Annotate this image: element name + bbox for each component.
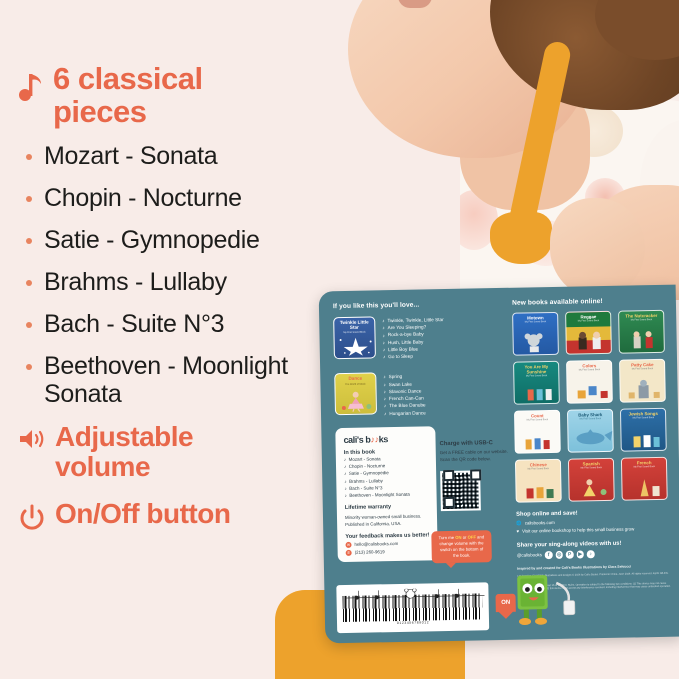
phone-value: (213) 260-9619 <box>355 549 385 555</box>
music-note-icon: ♪ <box>382 325 384 332</box>
grid-book-pattycake[interactable]: Patty Cake My First Sound Book <box>619 359 666 403</box>
bullet-icon <box>26 364 32 370</box>
youtube-icon[interactable]: ▶ <box>576 550 584 558</box>
grid-book-sub: My First Sound Book <box>526 375 547 377</box>
heart-icon: ♥ <box>516 529 519 534</box>
globe-icon: 🌐 <box>516 520 522 526</box>
music-note-icon: ♪ <box>383 353 385 360</box>
baby-mouth <box>398 0 432 8</box>
bullet-icon <box>26 238 32 244</box>
volume-icon <box>18 427 46 451</box>
star-illustration <box>334 333 375 356</box>
grid-book-sub: My First Sound Book <box>579 369 600 371</box>
social-row: @calisbooks f ◎ P ▶ ♪ <box>517 549 673 559</box>
flamenco-illustration <box>569 476 614 499</box>
new-books-header: New books available online! <box>512 297 668 307</box>
music-note-icon: ♪ <box>344 456 346 463</box>
warranty-header: Lifetime warranty <box>345 503 430 511</box>
song-list-dance: ♪Spring ♪Swan Lake ♪Slavonic Dance ♪Fren… <box>383 372 426 417</box>
grid-book-sub: My First Sound Book <box>633 417 654 419</box>
calis-books-logo: cali's b♪♪ks <box>343 433 428 445</box>
feature-label: Adjustable volume <box>55 422 295 481</box>
grid-book-title: You Are My Sunshine <box>514 365 558 375</box>
product-info-card: cali's b♪♪ks In this book ♪Mozart - Sona… <box>335 426 438 562</box>
bullet-icon <box>26 154 32 160</box>
grid-book-chinese[interactable]: Chinese My First Sound Book <box>515 459 562 503</box>
grid-book-sub: My First Sound Book <box>578 320 599 322</box>
website-value: calisbooks.com <box>525 520 555 526</box>
music-note-icon: ♪ <box>344 478 346 485</box>
koala-illustration <box>514 330 559 353</box>
email-row[interactable]: ✉ hello@calisbooks.com <box>345 540 430 548</box>
bullet-icon <box>26 322 32 328</box>
grid-book-motown[interactable]: Motown My First Sound Book <box>512 312 559 356</box>
grid-book-babyshark[interactable]: Baby Shark My First Sound Book <box>567 409 614 453</box>
tiktok-icon[interactable]: ♪ <box>587 550 595 558</box>
list-item-label: Satie - Gymnopedie <box>44 226 260 254</box>
counting-illustration <box>516 428 561 451</box>
list-item: Chopin - Nocturne <box>26 184 340 212</box>
bullet-icon <box>26 196 32 202</box>
music-note-icon <box>18 72 44 102</box>
music-note-icon: ♪ <box>345 492 347 499</box>
feature-label: On/Off button <box>55 499 230 528</box>
usb-c-section: Charge with USB-C Get a FREE cable on ou… <box>440 440 513 512</box>
music-note-icon: ♪ <box>383 374 385 381</box>
headline-row: 6 classical pieces <box>18 62 340 128</box>
grid-book-spanish[interactable]: Spanish My First Sound Book <box>568 458 615 502</box>
baby-photo <box>340 0 679 300</box>
music-note-icon: ♪ <box>344 463 346 470</box>
music-note-icon: ♪ <box>344 485 346 492</box>
music-note-icon: ♪ <box>384 388 386 395</box>
overall-strap-knot <box>490 212 552 264</box>
list-item: Brahms - Lullaby <box>26 268 340 296</box>
headline-text: 6 classical pieces <box>53 62 268 128</box>
book-mascot-illustration <box>512 573 555 626</box>
facebook-icon[interactable]: f <box>545 551 553 559</box>
chinese-illustration <box>516 477 561 500</box>
list-item-label: Bach - Suite N°3 <box>44 310 224 338</box>
list-item: Bach - Suite N°3 <box>26 310 340 338</box>
song-list-twinkle: ♪Twinkle, Twinkle, Little Star ♪Are You … <box>382 315 444 361</box>
barcode: 0123456789012 <box>336 582 489 633</box>
feedback-header: Your feedback makes us better! <box>345 532 430 540</box>
grid-book-nutcracker[interactable]: The Nutcracker My First Sound Book <box>618 310 665 354</box>
usb-header: Charge with USB-C <box>440 440 512 447</box>
grid-book-reggae[interactable]: Reggae My First Sound Book <box>565 311 612 355</box>
bookshop-text: Visit our online bookshop to help this s… <box>522 526 634 533</box>
mini-book-title: Twinkle Little Star <box>334 320 374 330</box>
musicians-illustration <box>567 329 612 352</box>
promo-row-dance: Dance The World of Music <box>334 370 506 418</box>
promo-row-twinkle: Twinkle Little Star My First Sound Book … <box>333 314 505 362</box>
if-you-like-header: If you like this you'll love... <box>333 300 504 310</box>
nutcracker-illustration <box>620 328 665 351</box>
bubble-on: ON <box>455 535 461 540</box>
song-line: ♪Hungarian Dance <box>384 409 426 417</box>
grid-book-sub: My First Sound Book <box>527 419 548 421</box>
phone-icon: ✆ <box>346 549 352 555</box>
list-item: Satie - Gymnopedie <box>26 226 340 254</box>
grid-book-count[interactable]: Count My First Sound Book <box>514 410 561 454</box>
product-feature-image: If you like this you'll love... Twinkle … <box>0 0 679 679</box>
social-handle: @calisbooks <box>517 552 542 557</box>
grid-book-sub: My First Sound Book <box>631 319 652 321</box>
grid-book-french[interactable]: French My First Sound Book <box>621 457 668 501</box>
colors-illustration <box>568 378 613 401</box>
feature-list-panel: 6 classical pieces Mozart - Sonata Chopi… <box>0 0 340 679</box>
credit-line: Inspired by and created for Cali's Books… <box>517 563 673 571</box>
grid-book-sub: My First Sound Book <box>581 467 602 469</box>
feature-on-off-button: On/Off button <box>18 499 340 532</box>
share-videos-header: Share your sing-along videos with us! <box>517 540 673 549</box>
warranty-text: Minority woman-owned small business. Pub… <box>345 512 430 528</box>
logo-note-icon: ♪♪ <box>370 434 378 444</box>
music-note-icon: ♪ <box>383 339 385 346</box>
family-illustration <box>621 426 666 449</box>
eiffel-tower-illustration <box>622 475 667 498</box>
music-note-icon: ♪ <box>383 346 385 353</box>
baby-hand <box>550 198 645 298</box>
bullet-icon <box>26 280 32 286</box>
grid-book-sub: My First Sound Book <box>525 321 546 323</box>
usb-cable-illustration <box>552 580 587 617</box>
music-note-icon: ♪ <box>383 381 385 388</box>
shark-illustration <box>569 427 614 450</box>
song-line: ♪Go to Sleep <box>383 352 445 360</box>
music-note-icon: ♪ <box>344 470 346 477</box>
card-song: ♪Beethoven - Moonlight Sonata <box>345 491 430 500</box>
list-item-label: Mozart - Sonata <box>44 142 217 170</box>
feature-adjustable-volume: Adjustable volume <box>18 422 340 481</box>
grid-book-sub: My First Sound Book <box>632 368 653 370</box>
music-note-icon: ♪ <box>384 403 386 410</box>
grid-book-sub: My First Sound Book <box>580 418 601 420</box>
shop-online-header: Shop online and save! <box>516 509 672 518</box>
music-note-icon: ♪ <box>384 395 386 402</box>
music-note-icon: ♪ <box>382 317 384 324</box>
grid-book-jewish[interactable]: Jewish Songs My First Sound Book <box>620 408 667 452</box>
grid-book-sunshine[interactable]: You Are My Sunshine My First Sound Book <box>513 361 560 405</box>
list-item: Mozart - Sonata <box>26 142 340 170</box>
mini-book-cover-dance: Dance The World of Music <box>334 373 377 416</box>
pinterest-icon[interactable]: P <box>566 551 574 559</box>
bookshop-row: ♥ Visit our online bookshop to help this… <box>516 526 672 534</box>
instagram-icon[interactable]: ◎ <box>555 551 563 559</box>
bubble-line1: Turn me <box>439 535 455 540</box>
list-item-label: Chopin - Nocturne <box>44 184 242 212</box>
ballerina-illustration <box>336 390 377 413</box>
on-off-speech-bubble: Turn me ON or OFF and change volume with… <box>431 530 492 564</box>
baker-illustration <box>621 377 666 400</box>
classical-pieces-list: Mozart - Sonata Chopin - Nocturne Satie … <box>26 142 340 408</box>
grid-book-sub: My First Sound Book <box>634 466 655 468</box>
qr-code[interactable] <box>440 467 485 512</box>
power-icon <box>18 504 46 532</box>
music-note-icon: ♪ <box>382 332 384 339</box>
mini-book-sub: The World of Music <box>345 382 366 385</box>
list-item: Beethoven - Moonlight Sonata <box>26 352 340 408</box>
phone-row[interactable]: ✆ (213) 260-9619 <box>346 548 431 556</box>
bubble-or: or <box>463 535 467 540</box>
book-grid: Motown My First Sound Book Reggae My Fir… <box>512 310 671 503</box>
bubble-off: OFF <box>468 534 476 539</box>
music-note-icon: ♪ <box>384 410 386 417</box>
usb-text: Get a FREE cable on our website. Scan th… <box>440 448 512 464</box>
grid-book-sub: My First Sound Book <box>528 468 549 470</box>
website-row[interactable]: 🌐 calisbooks.com <box>516 517 672 526</box>
list-item-label: Beethoven - Moonlight Sonata <box>44 352 294 408</box>
children-illustration <box>515 379 560 402</box>
book-back-cover: If you like this you'll love... Twinkle … <box>319 285 679 644</box>
grid-book-colors[interactable]: Colors My First Sound Book <box>566 360 613 404</box>
list-item-label: Brahms - Lullaby <box>44 268 227 296</box>
email-value: hello@calisbooks.com <box>354 541 398 547</box>
mail-icon: ✉ <box>345 541 351 547</box>
